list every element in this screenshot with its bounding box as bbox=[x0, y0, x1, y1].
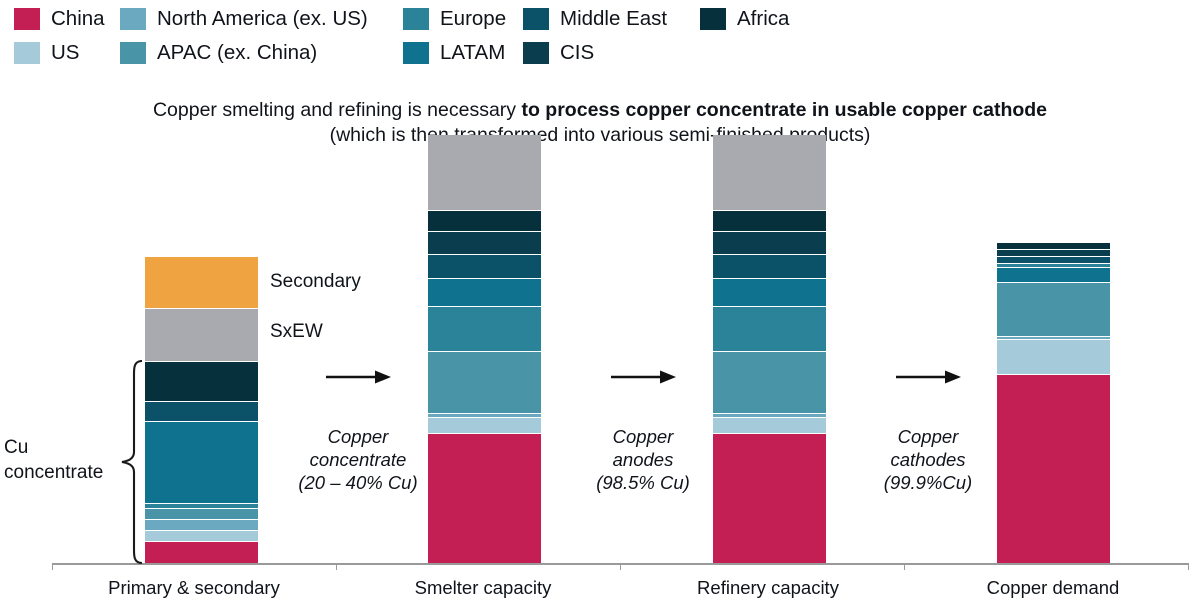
bar-segment-sxew[interactable] bbox=[713, 135, 826, 211]
bar-segment-africa[interactable] bbox=[997, 243, 1110, 250]
bar-segment-middle-east[interactable] bbox=[145, 402, 258, 422]
bar-segment-china[interactable] bbox=[997, 375, 1110, 563]
cu-concentrate-label: Cu concentrate bbox=[4, 435, 116, 485]
bar-segment-sxew[interactable] bbox=[428, 135, 541, 211]
x-axis-label-refinery-capacity: Refinery capacity bbox=[618, 576, 918, 600]
bar-smelter-capacity[interactable] bbox=[428, 135, 541, 563]
bar-segment-cis[interactable] bbox=[713, 232, 826, 255]
bar-segment-latam[interactable] bbox=[145, 422, 258, 504]
flow-label-line1: Copper bbox=[573, 425, 713, 448]
bar-segment-cis[interactable] bbox=[997, 250, 1110, 257]
bar-primary-secondary[interactable] bbox=[145, 257, 258, 563]
bar-segment-apac-ex-china[interactable] bbox=[713, 352, 826, 414]
flow-label-copper-cathodes: Copper cathodes (99.9%Cu) bbox=[858, 425, 998, 494]
bar-segment-latam[interactable] bbox=[713, 279, 826, 307]
x-axis-label-copper-demand: Copper demand bbox=[903, 576, 1200, 600]
bar-segment-latam[interactable] bbox=[997, 268, 1110, 283]
cu-concentrate-label-line2: concentrate bbox=[4, 460, 116, 485]
flow-label-copper-anodes: Copper anodes (98.5% Cu) bbox=[573, 425, 713, 494]
bar-segment-sxew[interactable] bbox=[145, 309, 258, 362]
flow-label-copper-concentrate: Copper concentrate (20 – 40% Cu) bbox=[288, 425, 428, 494]
bar-segment-north-america-ex-us[interactable] bbox=[145, 520, 258, 531]
bar-segment-latam[interactable] bbox=[428, 279, 541, 307]
flow-label-line1: Copper bbox=[858, 425, 998, 448]
axis-tick bbox=[52, 563, 53, 570]
flow-label-line3: (98.5% Cu) bbox=[573, 471, 713, 494]
axis-tick bbox=[620, 563, 621, 570]
cu-concentrate-brace-icon bbox=[118, 360, 144, 565]
bar-segment-apac-ex-china[interactable] bbox=[428, 352, 541, 414]
axis-tick bbox=[336, 563, 337, 570]
bar-segment-apac-ex-china[interactable] bbox=[997, 283, 1110, 337]
flow-arrow-icon bbox=[610, 368, 676, 386]
flow-label-line3: (20 – 40% Cu) bbox=[288, 471, 428, 494]
bar-segment-china[interactable] bbox=[428, 434, 541, 563]
flow-label-line2: cathodes bbox=[858, 448, 998, 471]
chart-plot-area: Cu concentrate Secondary SxEW Copper con… bbox=[0, 0, 1200, 606]
sxew-label: SxEW bbox=[270, 320, 323, 344]
bar-segment-europe[interactable] bbox=[428, 307, 541, 352]
bar-refinery-capacity[interactable] bbox=[713, 135, 826, 563]
bar-segment-middle-east[interactable] bbox=[997, 257, 1110, 264]
bar-segment-europe[interactable] bbox=[713, 307, 826, 352]
axis-tick bbox=[1188, 563, 1189, 570]
secondary-label: Secondary bbox=[270, 270, 361, 294]
x-axis-label-smelter-capacity: Smelter capacity bbox=[333, 576, 633, 600]
bar-segment-africa[interactable] bbox=[713, 211, 826, 232]
bar-segment-us[interactable] bbox=[428, 418, 541, 434]
bar-segment-china[interactable] bbox=[713, 434, 826, 563]
bar-segment-apac-ex-china[interactable] bbox=[145, 509, 258, 520]
x-axis-label-primary-secondary: Primary & secondary bbox=[44, 576, 344, 600]
bar-segment-us[interactable] bbox=[145, 531, 258, 542]
flow-label-line3: (99.9%Cu) bbox=[858, 471, 998, 494]
bar-segment-cis[interactable] bbox=[428, 232, 541, 255]
flow-label-line2: anodes bbox=[573, 448, 713, 471]
cu-concentrate-label-line1: Cu bbox=[4, 435, 116, 460]
bar-segment-china[interactable] bbox=[145, 542, 258, 563]
flow-label-line2: concentrate bbox=[288, 448, 428, 471]
bar-copper-demand[interactable] bbox=[997, 243, 1110, 563]
bar-segment-middle-east[interactable] bbox=[713, 255, 826, 279]
bar-segment-us[interactable] bbox=[997, 340, 1110, 375]
bar-segment-africa[interactable] bbox=[428, 211, 541, 232]
bar-segment-middle-east[interactable] bbox=[428, 255, 541, 279]
flow-arrow-icon bbox=[325, 368, 391, 386]
axis-tick bbox=[904, 563, 905, 570]
bar-segment-africa[interactable] bbox=[145, 362, 258, 402]
bar-segment-us[interactable] bbox=[713, 418, 826, 434]
flow-label-line1: Copper bbox=[288, 425, 428, 448]
flow-arrow-icon bbox=[895, 368, 961, 386]
bar-segment-secondary[interactable] bbox=[145, 257, 258, 309]
